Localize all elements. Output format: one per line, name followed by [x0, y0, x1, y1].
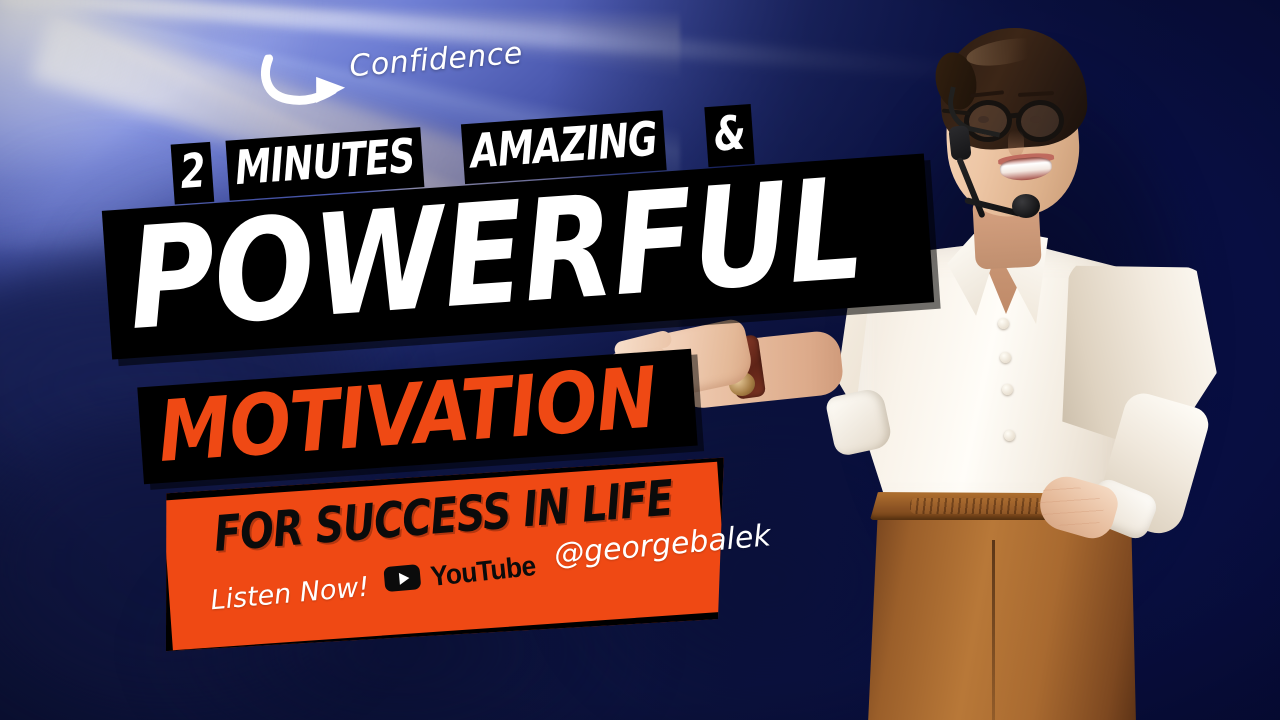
blouse-button	[1000, 352, 1011, 363]
blouse-button	[998, 318, 1009, 329]
orange-banner: FOR SUCCESS IN LIFE Listen Now! YouTube …	[155, 454, 735, 657]
presenter-photo	[760, 0, 1280, 720]
curved-arrow-right-icon	[250, 48, 359, 118]
blouse-button	[1002, 384, 1013, 395]
youtube-play-icon	[383, 564, 421, 592]
trouser-seam	[992, 540, 995, 720]
glasses-bridge	[1010, 112, 1020, 118]
headline-motivation: MOTIVATION	[156, 359, 659, 471]
confidence-label: Confidence	[348, 36, 524, 85]
thumbnail-canvas: Confidence 2 MINUTES AMAZING & POWERFUL …	[0, 0, 1280, 720]
blouse-button	[1004, 430, 1015, 441]
headline-group: Confidence 2 MINUTES AMAZING & POWERFUL …	[0, 0, 800, 720]
headset-earpiece	[948, 125, 971, 161]
nose	[1008, 130, 1024, 156]
microphone-windscreen	[1012, 194, 1040, 218]
headline-powerful: POWERFUL	[124, 168, 866, 342]
